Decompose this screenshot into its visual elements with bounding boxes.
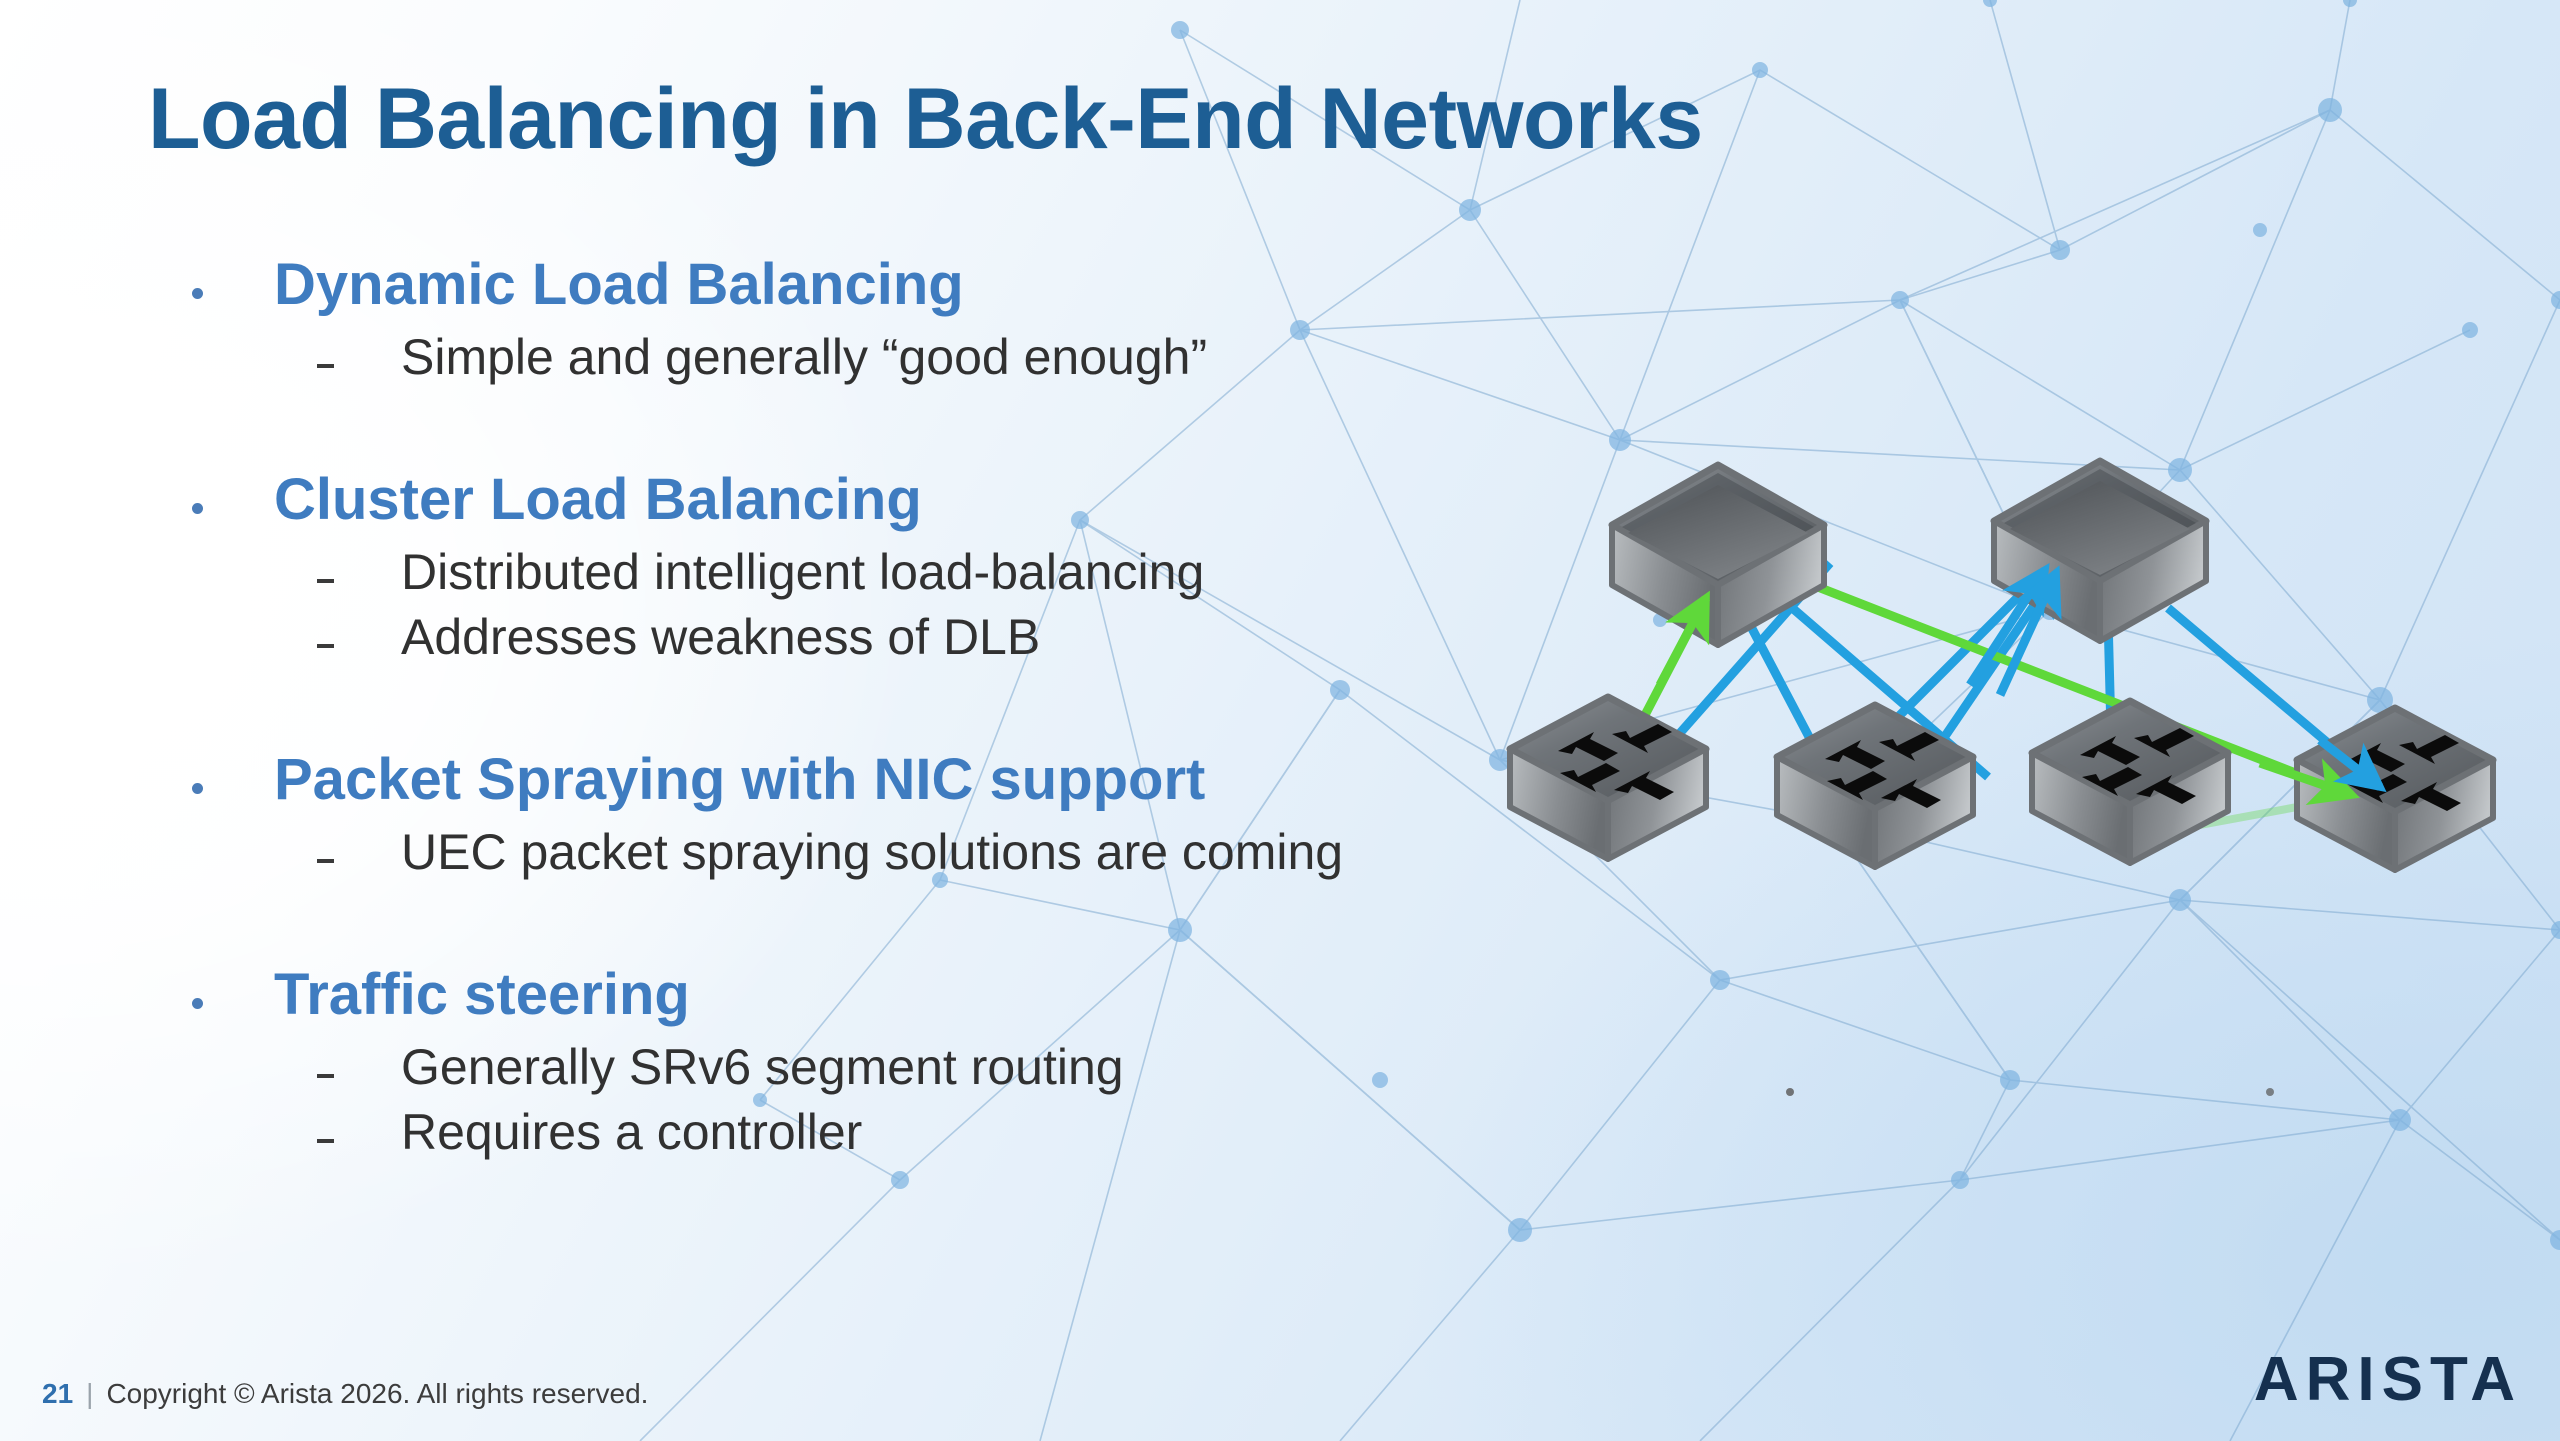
spine-leaf-diagram	[1500, 395, 2560, 875]
leaf-switch-1	[1510, 697, 1706, 859]
leaf-switch-3	[2032, 701, 2228, 863]
bullet-dot-icon	[192, 783, 203, 794]
bullet-dash-icon	[317, 364, 334, 368]
bullet-level2-label: Distributed intelligent load-balancing	[401, 543, 1204, 601]
bullet-dot-icon	[192, 998, 203, 1009]
bullet-group-3: Packet Spraying with NIC support UEC pac…	[0, 750, 1500, 893]
slide-title: Load Balancing in Back-End Networks	[148, 70, 1703, 169]
bullet-group-1: Dynamic Load Balancing Simple and genera…	[0, 255, 1500, 398]
bullet-group-4: Traffic steering Generally SRv6 segment …	[0, 965, 1500, 1173]
arista-logo: ARISTA	[2254, 1344, 2522, 1415]
bullet-level1-label: Cluster Load Balancing	[274, 466, 922, 533]
footer-separator: |	[86, 1378, 93, 1410]
bullet-dash-icon	[317, 579, 334, 583]
bullet-level2-label: UEC packet spraying solutions are coming	[401, 823, 1343, 881]
bullet-dot-icon	[192, 503, 203, 514]
bullet-level1: Cluster Load Balancing	[0, 470, 1500, 548]
speck-dot	[2266, 1088, 2274, 1096]
bullet-level1-label: Dynamic Load Balancing	[274, 251, 964, 318]
bullet-dash-icon	[317, 1139, 334, 1143]
bullet-level2-label: Generally SRv6 segment routing	[401, 1038, 1124, 1096]
bullet-level2-label: Addresses weakness of DLB	[401, 608, 1040, 666]
bullet-dot-icon	[192, 288, 203, 299]
bullet-level2-label: Requires a controller	[401, 1103, 862, 1161]
bullet-level2: UEC packet spraying solutions are coming	[0, 828, 1500, 893]
bullet-level1-label: Packet Spraying with NIC support	[274, 746, 1205, 813]
bullet-level1-label: Traffic steering	[274, 961, 690, 1028]
slide-canvas: Load Balancing in Back-End Networks Dyna…	[0, 0, 2560, 1441]
spine-switch-1	[1612, 465, 1824, 645]
speck-dot	[1786, 1088, 1794, 1096]
bullet-spacer	[0, 398, 1500, 470]
bullet-level2: Addresses weakness of DLB	[0, 613, 1500, 678]
bullet-level1: Dynamic Load Balancing	[0, 255, 1500, 333]
bullet-level2: Generally SRv6 segment routing	[0, 1043, 1500, 1108]
bullet-level2: Simple and generally “good enough”	[0, 333, 1500, 398]
bullet-level1: Packet Spraying with NIC support	[0, 750, 1500, 828]
bullet-spacer	[0, 893, 1500, 965]
page-number: 21	[42, 1378, 73, 1410]
bullet-level1: Traffic steering	[0, 965, 1500, 1043]
bullet-dash-icon	[317, 1074, 334, 1078]
copyright-text: Copyright © Arista 2026. All rights rese…	[106, 1378, 648, 1410]
bullet-spacer	[0, 678, 1500, 750]
footer: 21 | Copyright © Arista 2026. All rights…	[42, 1378, 648, 1410]
bullet-dash-icon	[317, 859, 334, 863]
bullet-level2-label: Simple and generally “good enough”	[401, 328, 1207, 386]
bullet-level2: Requires a controller	[0, 1108, 1500, 1173]
bullet-group-2: Cluster Load Balancing Distributed intel…	[0, 470, 1500, 678]
bullet-dash-icon	[317, 644, 334, 648]
bullet-level2: Distributed intelligent load-balancing	[0, 548, 1500, 613]
bullet-list: Dynamic Load Balancing Simple and genera…	[0, 255, 1500, 1173]
